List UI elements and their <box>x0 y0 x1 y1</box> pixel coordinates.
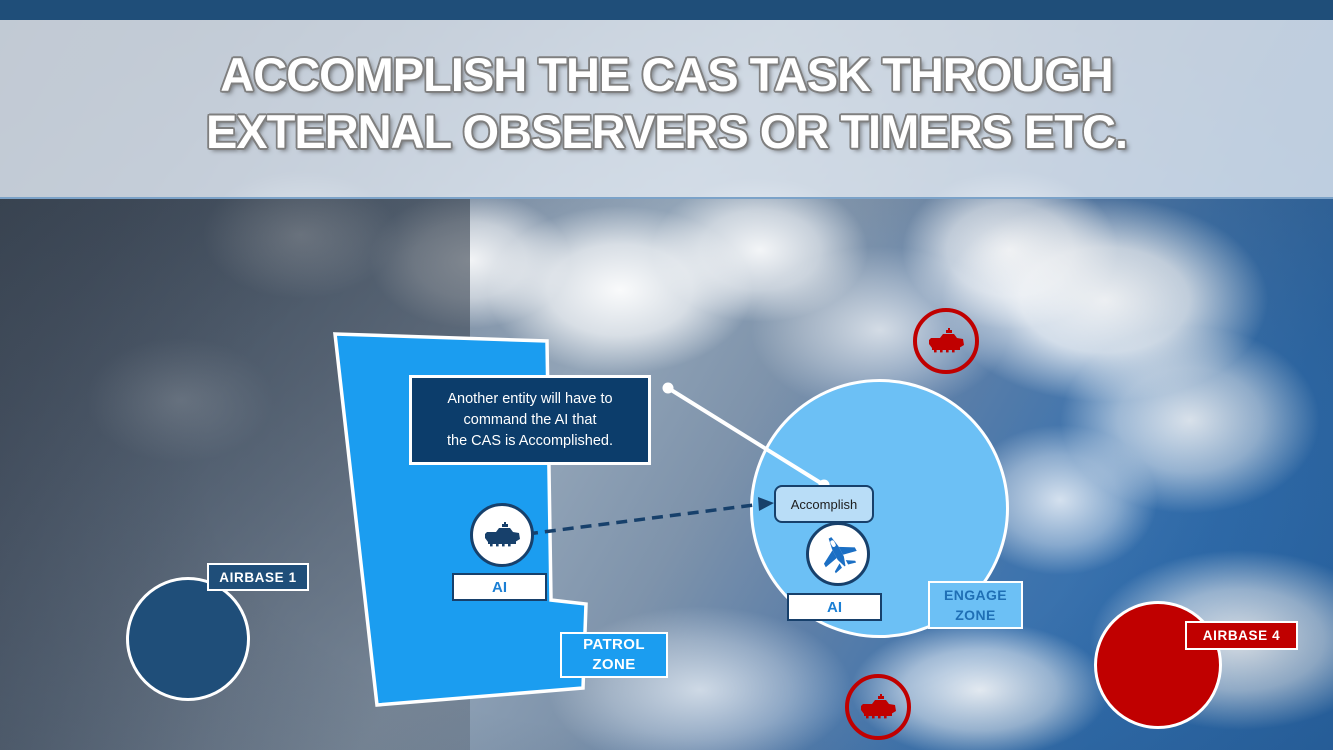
label-airbase-4: AIRBASE 4 <box>1185 621 1298 650</box>
unit-marker-friendly-jet[interactable] <box>806 522 870 586</box>
label-ai-patrol: AI <box>452 573 547 601</box>
label-ai-engage: AI <box>787 593 882 621</box>
tank-icon <box>482 522 522 548</box>
label-patrol-zone: PATROL ZONE <box>560 632 668 678</box>
unit-marker-friendly-tank[interactable] <box>470 503 534 567</box>
unit-marker-enemy-tank-south[interactable] <box>845 674 911 740</box>
tank-icon <box>858 694 898 720</box>
top-accent-strip <box>0 0 1333 20</box>
jet-icon <box>818 535 858 573</box>
tank-icon <box>926 328 966 354</box>
unit-marker-enemy-tank-north[interactable] <box>913 308 979 374</box>
label-engage-zone: ENGAGE ZONE <box>928 581 1023 629</box>
airbase-1-circle <box>126 577 250 701</box>
accomplish-node[interactable]: Accomplish <box>774 485 874 523</box>
callout-box: Another entity will have to command the … <box>409 375 651 465</box>
slide-canvas: ACCOMPLISH THE CAS TASK THROUGH EXTERNAL… <box>0 0 1333 750</box>
page-title: ACCOMPLISH THE CAS TASK THROUGH EXTERNAL… <box>0 46 1333 160</box>
label-airbase-1: AIRBASE 1 <box>207 563 309 591</box>
